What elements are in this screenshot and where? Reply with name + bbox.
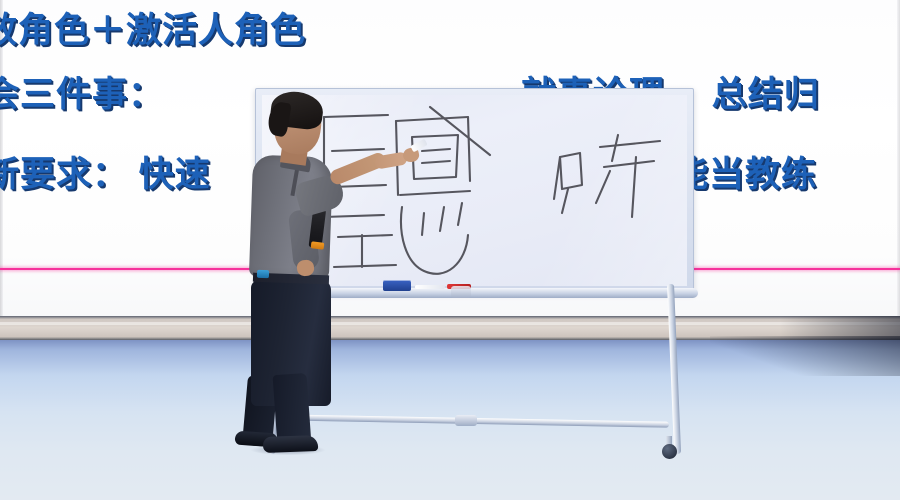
floor-corner-shadow	[710, 336, 900, 376]
whiteboard-caster-right	[662, 444, 677, 459]
video-frame: 效角色＋激活人角色 会三件事： 就事论理、 总结归 新要求： 快速 能当教练	[0, 0, 900, 500]
whiteboard-leg-right	[667, 284, 681, 454]
slide-line-2-left: 会三件事：	[0, 66, 164, 117]
presenter-belt-clip	[257, 270, 269, 278]
whiteboard-eraser[interactable]	[383, 280, 411, 291]
tray-joint	[451, 286, 471, 298]
microphone-band	[311, 241, 325, 250]
presenter	[235, 92, 370, 452]
crossbar-joint	[455, 415, 477, 426]
slide-line-3-left: 新要求： 快速	[0, 146, 211, 197]
slide-line-1: 效角色＋激活人角色	[0, 2, 306, 53]
presenter-shoe-front	[263, 435, 319, 453]
white-marker[interactable]	[415, 285, 445, 289]
